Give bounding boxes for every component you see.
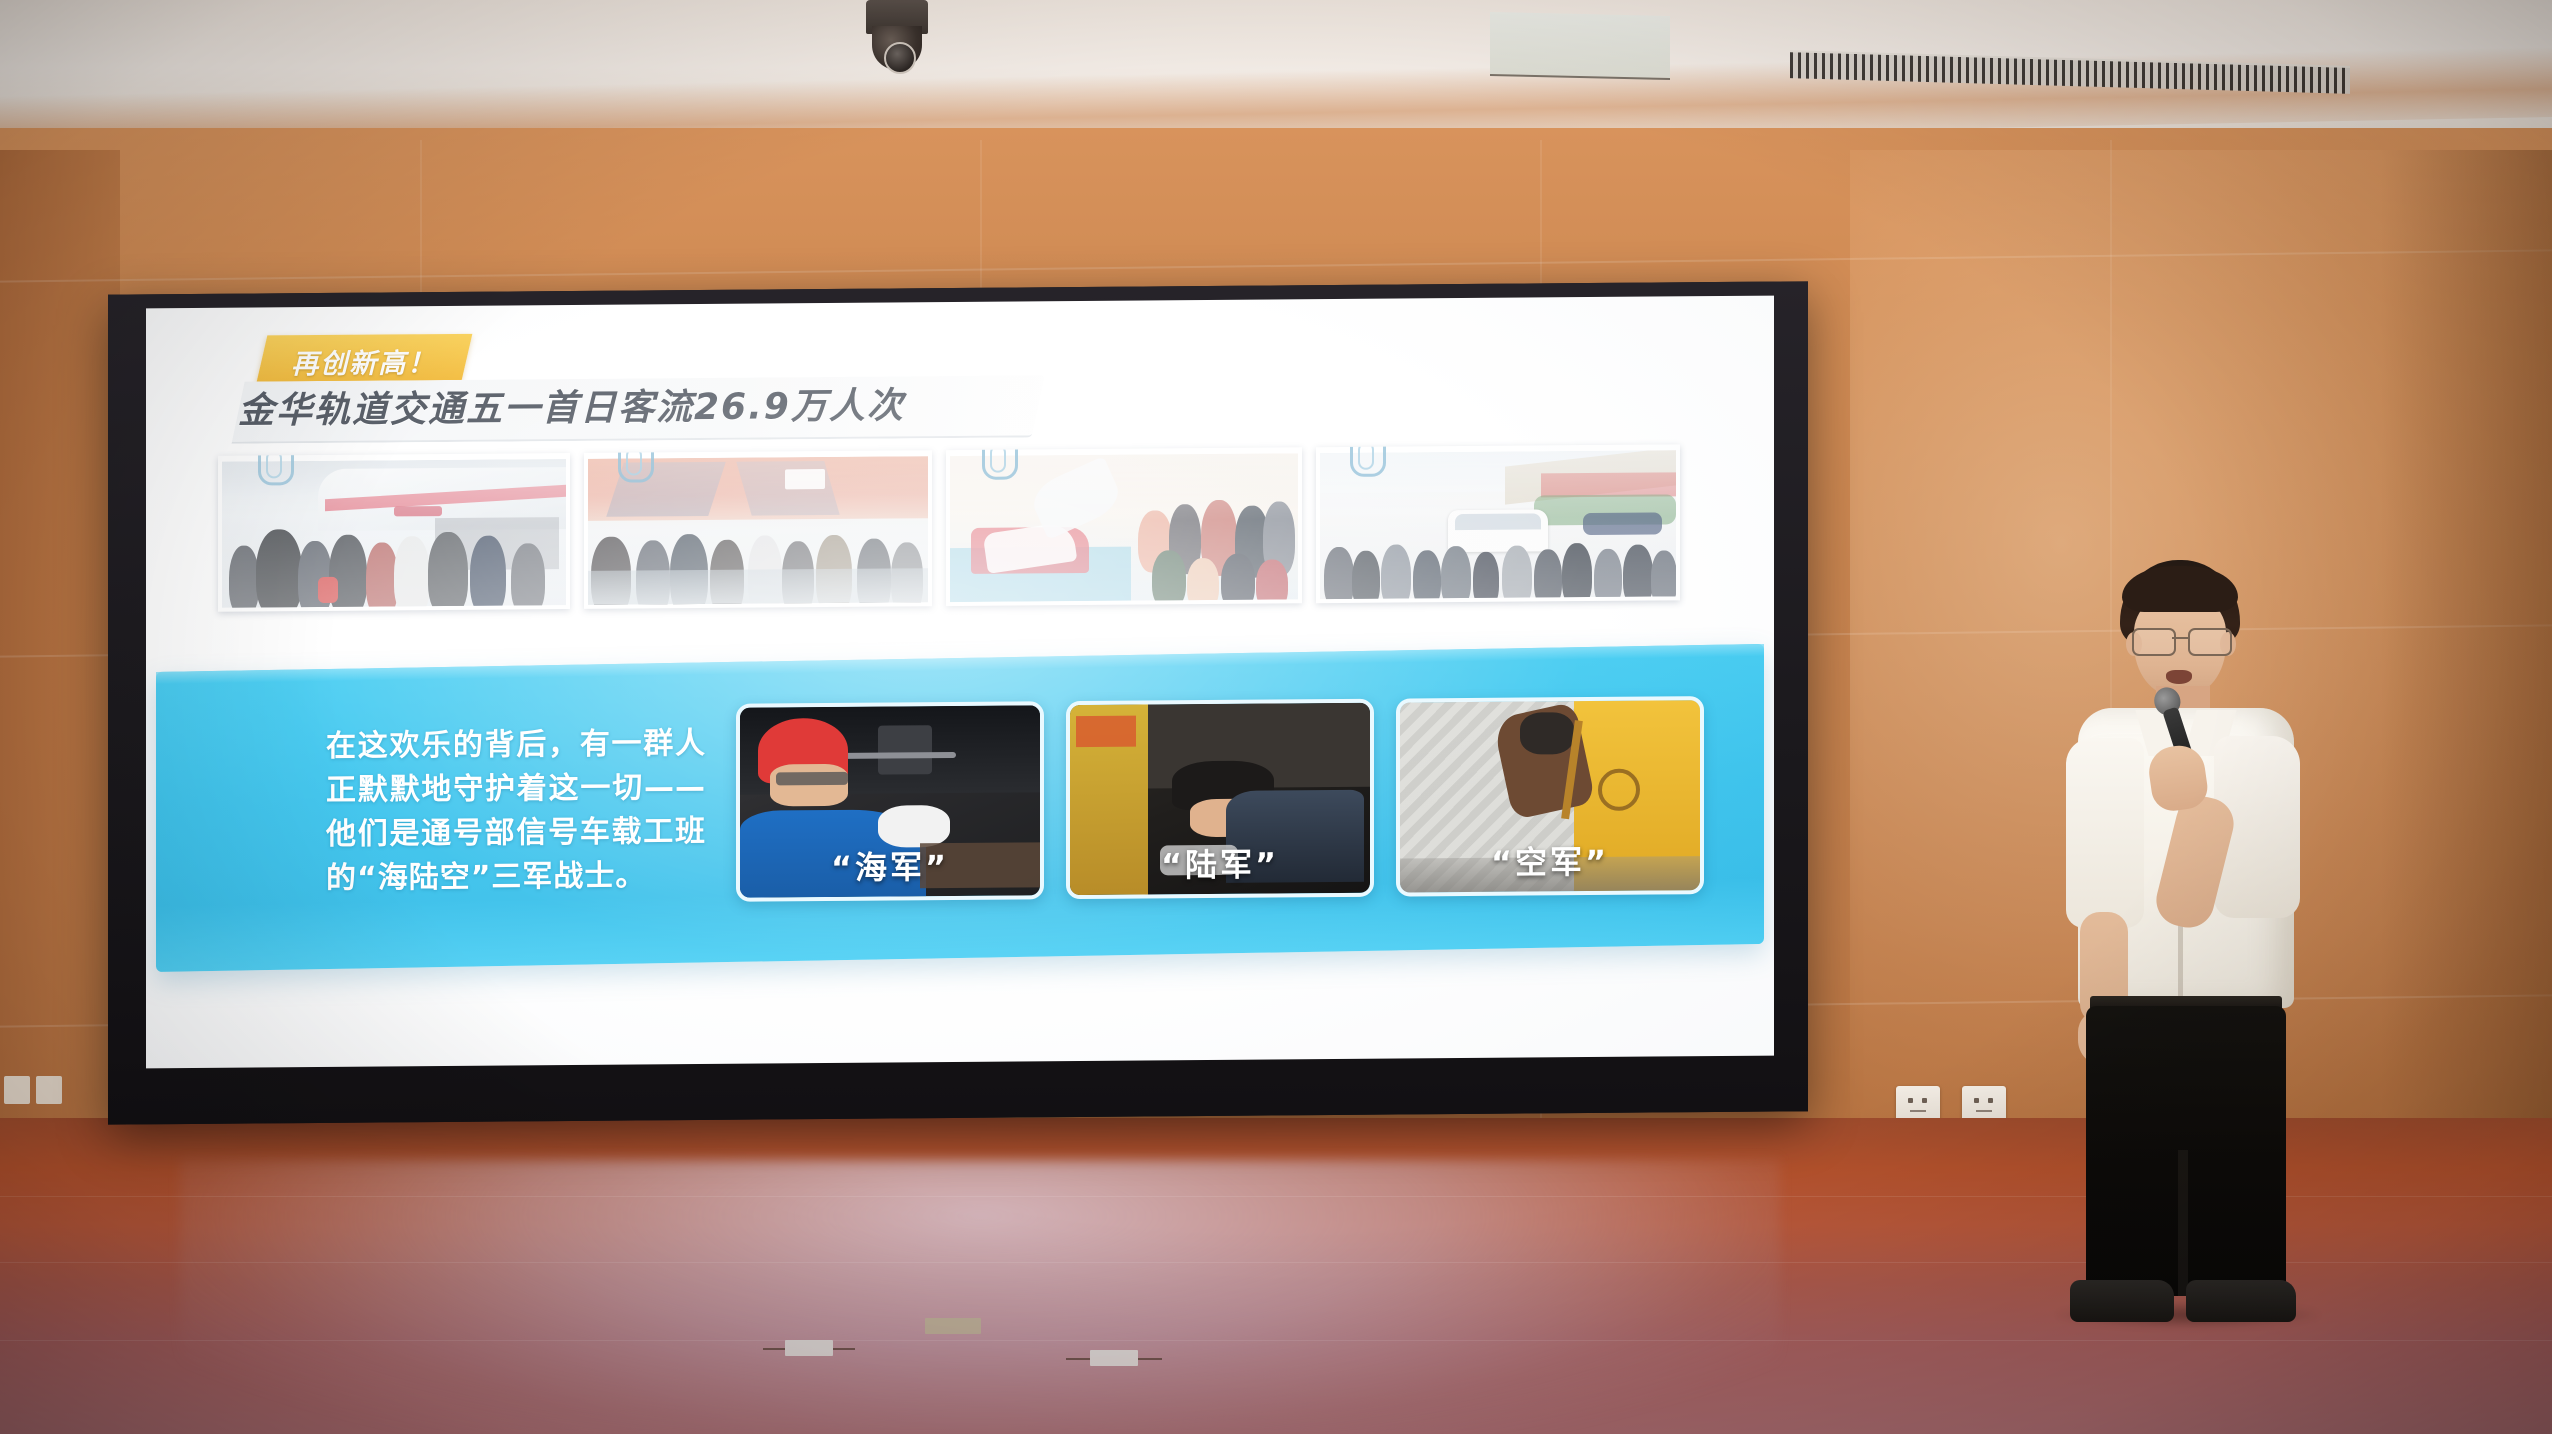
photo-stage-performance-audience — [946, 447, 1302, 606]
presenter-sleeve-left — [2066, 738, 2144, 928]
presenter-shoe — [2070, 1280, 2174, 1322]
wall-shadow — [2380, 150, 2552, 1130]
worker-photo-row: “海军” “陆军” — [736, 696, 1736, 904]
worker-photo-airforce: “空军” — [1396, 696, 1704, 896]
panel-paragraph-text: 在这欢乐的背后，有一群人正默默地守护着这一切——他们是通号部信号车载工班的“海陆… — [266, 722, 706, 901]
photo-metro-platform-crowd — [218, 453, 570, 612]
panel-light — [1490, 12, 1670, 80]
photo-plaza-crowd-outdoor — [1316, 444, 1680, 603]
photo-station-concourse-gates — [584, 450, 932, 609]
headline-badge-label: 再创新高！ — [291, 341, 436, 381]
panel-top-edge — [156, 644, 1764, 684]
presenter-shoe — [2186, 1280, 2296, 1322]
glasses-icon — [2130, 628, 2232, 654]
floor-box — [925, 1318, 981, 1334]
presentation-room-scene: 再创新高！ 金华轨道交通五一首日客流26.9万人次 — [0, 0, 2552, 1434]
paperclip-icon — [982, 447, 1018, 480]
worker-photo-navy: “海军” — [736, 701, 1044, 901]
slide-title: 金华轨道交通五一首日客流26.9万人次 — [238, 381, 1138, 436]
camera-lens-icon — [884, 42, 916, 74]
worker-photo-army-caption: “陆军” — [1070, 839, 1370, 887]
presenter-hair-front — [2122, 566, 2238, 612]
presenter — [2038, 560, 2338, 1320]
worker-photo-navy-caption: “海军” — [740, 841, 1040, 889]
paperclip-icon — [1350, 444, 1386, 477]
slide-canvas: 再创新高！ 金华轨道交通五一首日客流26.9万人次 — [146, 296, 1774, 1069]
floor-box — [1090, 1350, 1138, 1366]
presenter-mouth — [2166, 670, 2192, 684]
worker-photo-airforce-caption: “空军” — [1400, 836, 1700, 884]
wall-socket — [4, 1076, 30, 1104]
paperclip-icon — [618, 450, 654, 482]
panel-paragraph: 在这欢乐的背后，有一群人正默默地守护着这一切——他们是通号部信号车载工班的“海陆… — [266, 722, 706, 901]
presenter-leg-seam — [2178, 1150, 2188, 1296]
floor-box — [785, 1340, 833, 1356]
projection-screen-frame: 再创新高！ 金华轨道交通五一首日客流26.9万人次 — [108, 281, 1808, 1124]
floor-reflection — [180, 1160, 1780, 1434]
wall-left-panel — [0, 150, 120, 1130]
floor-seam — [0, 1340, 2552, 1341]
wall-socket — [36, 1076, 62, 1104]
photo-strip — [218, 444, 1698, 620]
worker-photo-army: “陆军” — [1066, 699, 1374, 899]
paperclip-icon — [258, 453, 294, 485]
